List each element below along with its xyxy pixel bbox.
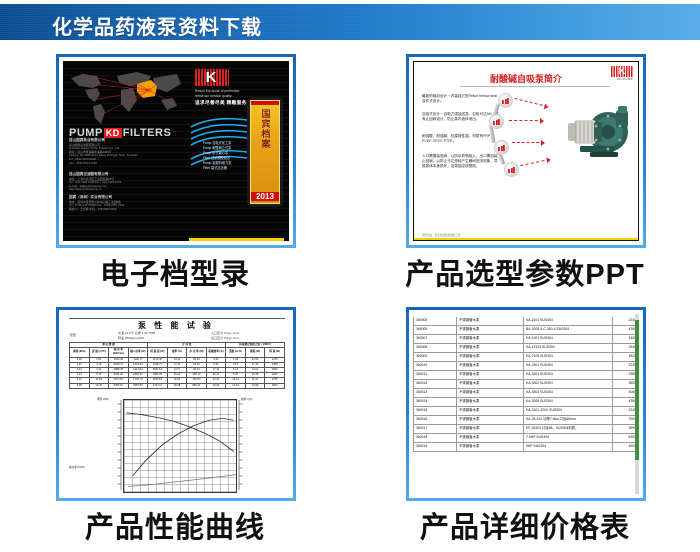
price-cell-nm: 不锈钢管水泵 [457,442,524,451]
col-head: 扬程 (M) [245,348,265,357]
table-row: 360015不锈钢管水泵KA-2101-220V SUS3042240 [414,406,639,415]
price-table-body: 360005不锈钢管水泵KA-2101 SUS3042240360006不锈钢管… [414,317,639,451]
performance-data-table: 测 定 数 据 计 算 值 转速测定值校正值 = 2900.0 扬程 (kPa)… [69,342,285,389]
company-block-2: 昆山国宾过滤器有限公司 地址：上海市嘉定区工业园区路88号 Tel：021-51… [69,173,189,192]
table-header-row: 扬程 (kPa) 流 量 (m³/h) 轴 功 率 (kW/min) 输入功率 … [70,348,285,357]
table-row: 5.1011.942974.521709.722660.6416.66462.5… [70,378,285,383]
title-underline [460,86,610,87]
price-cell-id: 360010 [414,361,457,370]
meta-left: 泵型 [70,333,76,337]
table-cell: 1794.11 [148,383,168,388]
col-head: 转 速 (M) [265,348,285,357]
table-cell: 1806 [265,383,285,388]
callout-arrow-icon [512,142,544,143]
slide-bullet-1: 最新的轴封设计－内装独冗型Teflon bellow seal自件式设计。 [422,94,500,104]
card-frame: 耐酸碱自吸泵简介 K KD-PUMP 最新的轴封设计－内装独冗型Teflon b… [406,54,646,248]
table-cell: 13.40 [89,383,109,388]
meta-right-1: 入口压力 0 (kg / cm²) [211,331,239,335]
table-cell: 25.99 [206,383,226,388]
brand-sub: KD-PUMP [617,77,633,81]
card-frame: 泵 性 能 试 验 泵型 水温 21.8℃ 比重 1.00 7500 转速 25… [56,307,296,501]
table-row: 360010不锈钢管水泵KA-2301 SUS3042240 [414,361,639,370]
price-cell-nm: 不锈钢管水泵 [457,379,524,388]
performance-table-body: 0.001.542940.041146.771174.3614.4452.425… [70,357,285,388]
col-head: 水 功 率 (W) [187,348,207,357]
price-cell-spec: KA-3305 SUS304 [524,397,613,406]
price-cell-id: 360005 [414,317,457,325]
download-card-electronic-catalog[interactable]: PUMPKDFILTERS 昆山国宾泵业有限公司 昆山国宾过滤器有限公司 Kun… [0,46,350,299]
yellow-accent-bar [414,238,638,240]
col-head: 轴 功 率 (kW/min) [109,348,129,357]
banner-year: 2013 [251,192,279,201]
card-frame: 360005不锈钢管水泵KA-2101 SUS3042240360006不锈钢管… [406,307,646,501]
table-row: 360018不锈钢管水泵7.5HP SUS3046300 [414,433,639,442]
bar-chart-icon [498,93,513,108]
table-row: 360007不锈钢管水泵KA-1001 SUS3041400 [414,334,639,343]
card-frame-inner: 泵 性 能 试 验 泵型 水温 21.8℃ 比重 1.00 7500 转速 25… [59,310,293,498]
banner-top-bar [251,101,279,105]
price-cell-spec: KA-1001 SUS304 [524,334,613,343]
price-cell-id: 360006 [414,325,457,334]
card-frame-inner: PUMPKDFILTERS 昆山国宾泵业有限公司 昆山国宾过滤器有限公司 Kun… [59,57,293,245]
table-row: 6.3813.402965.101856.801794.1116.98860.3… [70,383,285,388]
download-card-product-selection-ppt[interactable]: 耐酸碱自吸泵简介 K KD-PUMP 最新的轴封设计－内装独冗型Teflon b… [350,46,700,299]
page-title: 化学品药液泵资料下载 [52,11,262,40]
col-head: 输入功率 (W) [128,348,148,357]
table-row: 360006不锈钢管水泵BA-3305-5-C-380-4 SUS3044760 [414,325,639,334]
price-cell-nm: 不锈钢管水泵 [457,397,524,406]
price-cell-spec: KA-3303 SUS304 [524,388,613,397]
right-axis-ticks [237,398,251,492]
yellow-accent-bar [189,238,284,241]
price-cell-spec: KA-2105 SUS304 [524,352,613,361]
bar-chart-icon [489,114,504,129]
price-cell-id: 360016 [414,415,457,424]
meta-mid-1: 水温 21.8℃ 比重 1.00 7500 [118,331,155,335]
left-axis-label: 扬程 H(M) [97,398,109,403]
price-cell-id: 360012 [414,379,457,388]
callout-arrow-icon [509,120,543,121]
price-cell-spec: BA-3305-5-C-380-4 SUS304 [524,325,613,334]
card-frame: PUMPKDFILTERS 昆山国宾泵业有限公司 昆山国宾过滤器有限公司 Kun… [56,54,296,248]
meta-right-2: 出口压力 0 (kg / cm²) [211,336,239,340]
bar-chart-icon [504,162,519,177]
scrollbar-track[interactable] [635,314,639,494]
performance-curve-chart [123,399,237,493]
callout-arrow-icon [514,98,547,107]
price-cell-id: 360014 [414,397,457,406]
table-row: 360011不锈钢管水泵KA-3301 SUS3042380 [414,370,639,379]
table-cell: 2965.10 [109,383,129,388]
slide-title: 耐酸碱自吸泵简介 [414,72,638,85]
price-cell-spec: KA-3302 SUS304 [524,379,613,388]
download-card-detailed-price-list[interactable]: 360005不锈钢管水泵KA-2101 SUS3042240360006不锈钢管… [350,299,700,552]
price-cell-nm: 不锈钢管水泵 [457,325,524,334]
price-cell-spec: 5HP SUS304 [524,442,613,451]
table-row: 360013不锈钢管水泵KA-3303 SUS3044060 [414,388,639,397]
world-map-graphic [67,66,185,128]
brand-letter: K [617,66,627,77]
company-block-1: 昆山国宾泵业有限公司 昆山国宾过滤器有限公司 Kunshan Guobin Pu… [69,139,189,165]
price-cell-id: 360019 [414,442,457,451]
card-caption-detailed-price-list: 产品详细价格表 [350,504,700,546]
company-block-3: 国宾（深圳）实业有限公司 地址：深圳市宝安区沙井中心路工业园8栋 Tel：075… [69,196,189,211]
col-head: 转 速 度 (W) [148,348,168,357]
col-head: 效率 (%) [167,348,187,357]
price-cell-nm: 不锈钢管水泵 [457,352,524,361]
price-cell-spec: KA-25-310 功率7.5kw,口径65mm [524,415,613,424]
bottom-left-axis-label: 轴功率 P(kW) [69,466,85,471]
download-card-performance-curve[interactable]: 泵 性 能 试 验 泵型 水温 21.8℃ 比重 1.00 7500 转速 25… [0,299,350,552]
slide-bullet-3: 耐强酸、耐强碱、抗腐蚀性强，材质有FRPP PVDF CPVC PTFE。 [422,134,500,144]
award-banner-inner: 国宾档案 2013 [250,100,280,204]
rule-top [69,318,285,319]
col-head: 扬程 (kPa) [70,348,90,357]
table-cell: 14.12 [226,383,246,388]
table-row: 360014不锈钢管水泵KA-3305 SUS3044760 [414,397,639,406]
price-cell-nm: 不锈钢管水泵 [457,334,524,343]
price-cell-id: 360009 [414,352,457,361]
table-row: 360005不锈钢管水泵KA-2101 SUS3042240 [414,317,639,325]
pump-product-photo [546,104,632,164]
price-cell-nm: 不锈钢管水泵 [457,388,524,397]
meta-mid-2: 转速 2500(rpm)±50 [118,336,144,340]
price-cell-nm: 不锈钢管水泵 [457,361,524,370]
table-cell: 860.31 [187,383,207,388]
table-row: 360017不锈钢管水泵KF-25303 口径65、SUS304材质。3990 [414,424,639,433]
card-thumbnail-performance-curve[interactable]: 泵 性 能 试 验 泵型 水温 21.8℃ 比重 1.00 7500 转速 25… [63,314,289,494]
price-cell-id: 360018 [414,433,457,442]
price-cell-spec: KA-2101 SUS304 [524,317,613,325]
price-cell-nm: 不锈钢管水泵 [457,317,524,325]
ppt-slide-image: 耐酸碱自吸泵简介 K KD-PUMP 最新的轴封设计－内装独冗型Teflon b… [413,61,639,241]
table-cell: 10.95 [245,383,265,388]
award-banner: 国宾档案 2013 [247,97,283,207]
card-caption-electronic-catalog: 电子档型录 [0,251,350,293]
left-axis-ticks [109,398,123,492]
price-cell-spec: 7.5HP SUS304 [524,433,613,442]
price-cell-id: 360015 [414,406,457,415]
card-frame-inner: 360005不锈钢管水泵KA-2101 SUS3042240360006不锈钢管… [409,310,643,498]
price-cell-spec: KA-3301 SUS304 [524,370,613,379]
price-cell-spec: KF-25303 口径65、SUS304材质。 [524,424,613,433]
slide-footnote: 国宾泵业 · 专业制造耐腐蚀化工泵 [422,233,461,237]
price-cell-nm: 不锈钢管水泵 [457,406,524,415]
price-cell-nm: 不锈钢管水泵 [457,415,524,424]
price-table-image: 360005不锈钢管水泵KA-2101 SUS3042240360006不锈钢管… [413,314,639,494]
price-cell-spec: KA-2101-220V SUS304 [524,406,613,415]
card-caption-performance-curve: 产品性能曲线 [0,504,350,546]
card-thumbnail-product-selection-ppt[interactable]: 耐酸碱自吸泵简介 K KD-PUMP 最新的轴封设计－内装独冗型Teflon b… [413,61,639,241]
table-cell: 16.98 [167,383,187,388]
sheet-title: 泵 性 能 试 验 [63,320,289,331]
table-row: 360009不锈钢管水泵KA-2105 SUS3041820 [414,352,639,361]
price-cell-nm: 不锈钢管水泵 [457,370,524,379]
table-row: 360019不锈钢管水泵5HP SUS3044900 [414,442,639,451]
price-cell-nm: 不锈钢管水泵 [457,343,524,352]
page-header: 化学品药液泵资料下载 [0,4,700,40]
slide-bullet-4: 入口需要装底阀，以防杂异物吸入，出口需加装止回阀，以防止马达停转产生瞬间回流现象… [422,154,500,169]
brand-letter: K [203,69,219,86]
catalog-cover-image: PUMPKDFILTERS 昆山国宾泵业有限公司 昆山国宾过滤器有限公司 Kun… [63,61,289,241]
performance-sheet-image: 泵 性 能 试 验 泵型 水温 21.8℃ 比重 1.00 7500 转速 25… [63,314,289,494]
card-caption-product-selection-ppt: 产品选型参数PPT [350,251,700,293]
price-cell-id: 360011 [414,370,457,379]
card-thumbnail-detailed-price-list[interactable]: 360005不锈钢管水泵KA-2101 SUS3042240360006不锈钢管… [413,314,639,494]
col-head: 流 量 (m³/h) [89,348,109,357]
col-head: 流量 (m³/h) [226,348,246,357]
scrollbar-thumb[interactable] [635,320,639,460]
price-cell-id: 360017 [414,424,457,433]
price-cell-nm: 不锈钢管水泵 [457,433,524,442]
card-thumbnail-electronic-catalog[interactable]: PUMPKDFILTERS 昆山国宾泵业有限公司 昆山国宾过滤器有限公司 Kun… [63,61,289,241]
table-row: 360008不锈钢管水泵KA-15103 SUS3041540 [414,343,639,352]
price-cell-spec: KA-2301 SUS304 [524,361,613,370]
bar-chart-icon [494,140,509,155]
price-cell-id: 360008 [414,343,457,352]
table-row: 360016不锈钢管水泵KA-25-310 功率7.5kw,口径65mm7000 [414,415,639,424]
card-frame-inner: 耐酸碱自吸泵简介 K KD-PUMP 最新的轴封设计－内装独冗型Teflon b… [409,57,643,245]
price-cell-spec: KA-15103 SUS304 [524,343,613,352]
curve-lines [124,400,236,492]
price-table: 360005不锈钢管水泵KA-2101 SUS3042240360006不锈钢管… [413,317,639,452]
download-card-grid: PUMPKDFILTERS 昆山国宾泵业有限公司 昆山国宾过滤器有限公司 Kun… [0,46,700,552]
price-cell-id: 360007 [414,334,457,343]
price-cell-id: 360013 [414,388,457,397]
price-cell-nm: 不锈钢管水泵 [457,424,524,433]
banner-text: 国宾档案 [260,109,271,149]
table-cell: 1856.80 [128,383,148,388]
page-root: 化学品药液泵资料下载 [0,0,700,552]
table-row: 360012不锈钢管水泵KA-3302 SUS3042800 [414,379,639,388]
wordmark-badge: KD [104,128,122,138]
table-cell: 6.38 [70,383,90,388]
col-head: 机械效率 (%) [206,348,226,357]
